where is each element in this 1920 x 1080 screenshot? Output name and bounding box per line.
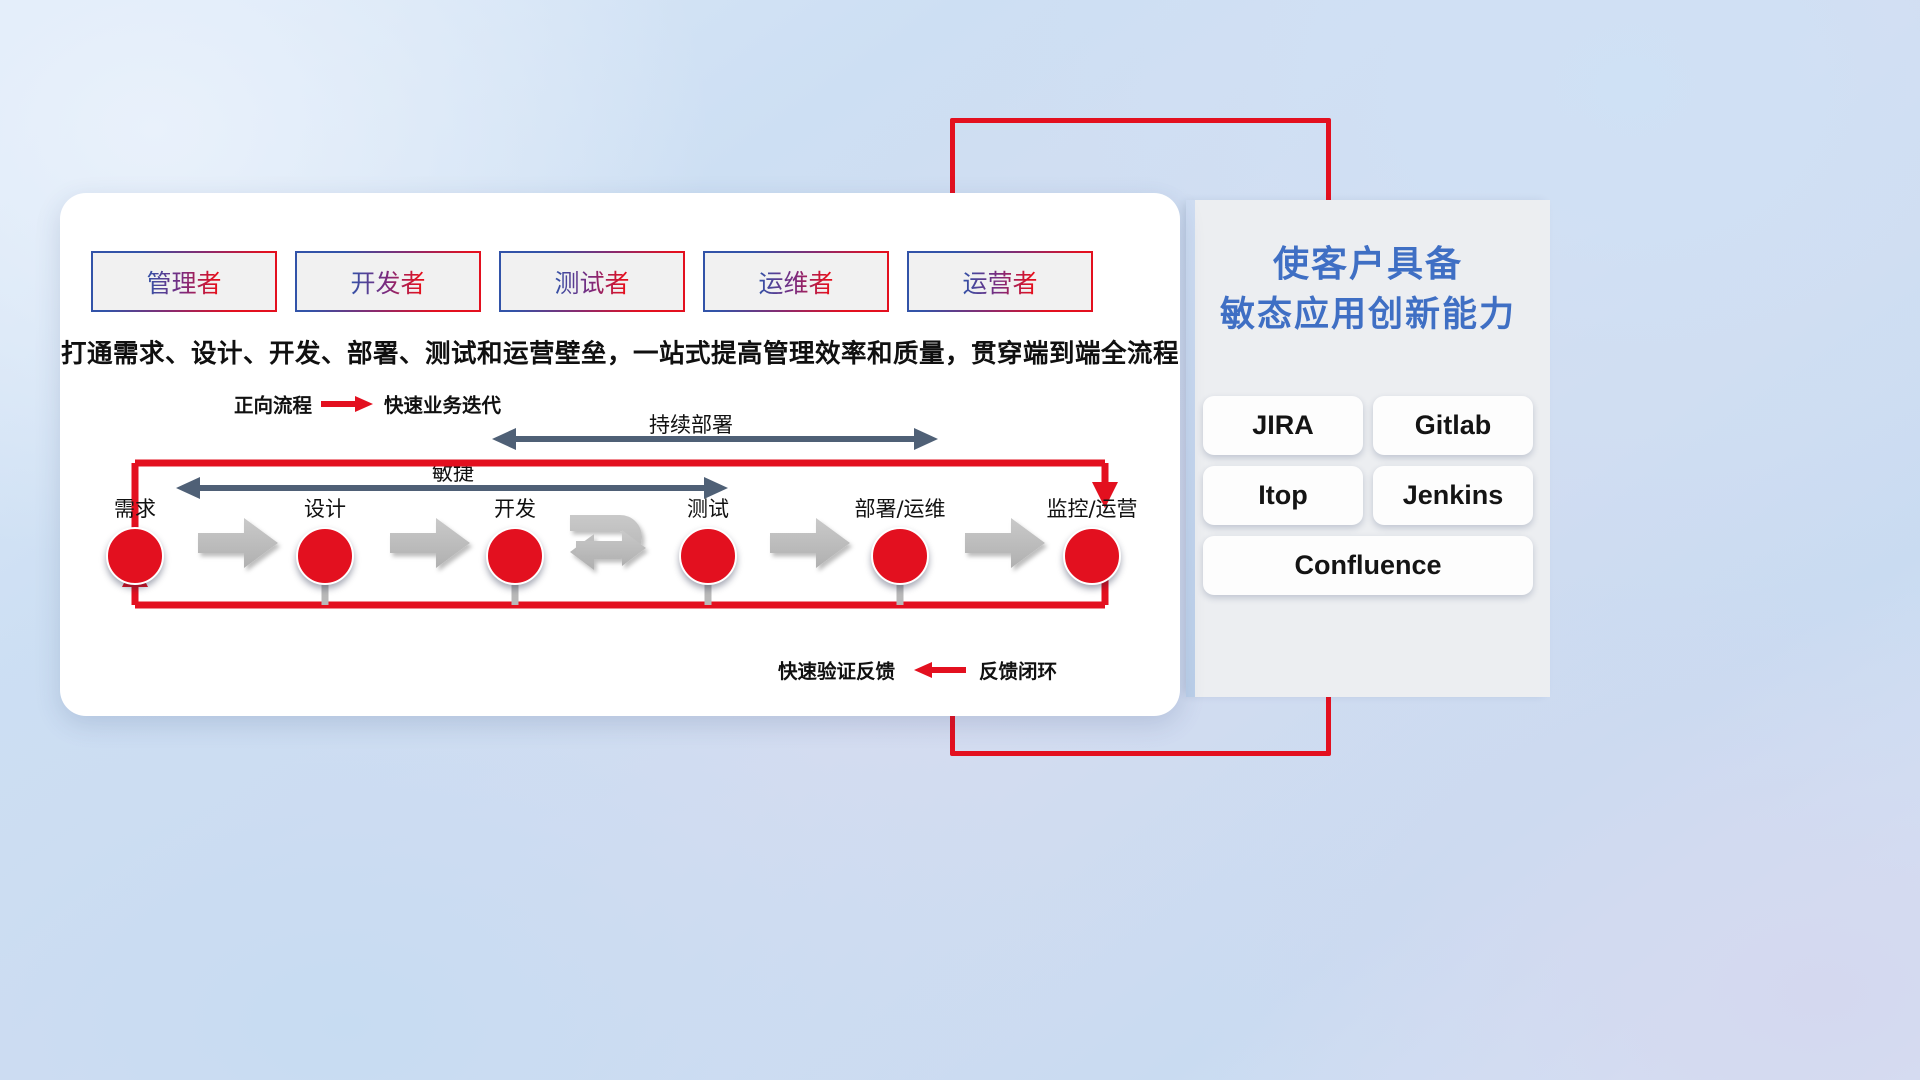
- node-dot: [486, 527, 544, 585]
- panel-heading: 使客户具备 敏态应用创新能力: [1186, 238, 1550, 341]
- tool-chip-jira[interactable]: JIRA: [1203, 396, 1363, 455]
- node-dot: [106, 527, 164, 585]
- summary-text: 打通需求、设计、开发、部署、测试和运营壁垒，一站式提高管理效率和质量，贯穿端到端…: [60, 333, 1180, 370]
- node-label: 设计: [265, 493, 385, 523]
- node-dot: [679, 527, 737, 585]
- legend-forward-label: 正向流程: [234, 389, 312, 418]
- tool-chip-grid: JIRA Gitlab Itop Jenkins Confluence: [1203, 396, 1533, 595]
- tool-chip-itop[interactable]: Itop: [1203, 466, 1363, 525]
- node-label: 需求: [75, 493, 195, 523]
- role-box-manager[interactable]: 管理者: [91, 251, 277, 312]
- node-label: 测试: [648, 493, 768, 523]
- red-arrow-right-icon: [321, 394, 375, 414]
- process-node-monitor-operations[interactable]: 监控/运营: [1032, 493, 1152, 585]
- legend-forward-result: 快速业务迭代: [384, 389, 501, 418]
- main-card: 管理者 开发者 测试者 运维者 运营者 打通需求、设计、开发、部署、测试和运营壁…: [60, 193, 1180, 716]
- process-node-row: 需求 设计 开发 测试 部署/运维 监控/运营: [60, 493, 1180, 613]
- slide-canvas: 使客户具备 敏态应用创新能力 JIRA Gitlab Itop Jenkins …: [0, 0, 1920, 1080]
- role-box-operations[interactable]: 运营者: [907, 251, 1093, 312]
- red-arrow-left-icon: [908, 660, 966, 680]
- node-label: 部署/运维: [840, 493, 960, 523]
- node-label: 开发: [455, 493, 575, 523]
- label-continuous-deployment: 持续部署: [649, 409, 733, 439]
- label-agile: 敏捷: [432, 457, 474, 487]
- role-label: 开发者: [350, 264, 425, 300]
- role-box-row: 管理者 开发者 测试者 运维者 运营者: [91, 251, 1093, 312]
- tool-chip-gitlab[interactable]: Gitlab: [1373, 396, 1533, 455]
- process-node-deploy-ops[interactable]: 部署/运维: [840, 493, 960, 585]
- node-dot: [871, 527, 929, 585]
- node-dot: [296, 527, 354, 585]
- legend-feedback-result: 快速验证反馈: [778, 655, 895, 684]
- process-node-design[interactable]: 设计: [265, 493, 385, 585]
- legend-feedback-label: 反馈闭环: [979, 655, 1057, 684]
- role-box-tester[interactable]: 测试者: [499, 251, 685, 312]
- tool-chip-jenkins[interactable]: Jenkins: [1373, 466, 1533, 525]
- role-box-ops[interactable]: 运维者: [703, 251, 889, 312]
- role-label: 测试者: [554, 264, 629, 300]
- node-dot: [1063, 527, 1121, 585]
- role-label: 管理者: [146, 264, 221, 300]
- tool-chip-confluence[interactable]: Confluence: [1203, 536, 1533, 595]
- role-label: 运维者: [758, 264, 833, 300]
- tool-panel: 使客户具备 敏态应用创新能力 JIRA Gitlab Itop Jenkins …: [1186, 200, 1550, 697]
- process-node-development[interactable]: 开发: [455, 493, 575, 585]
- legend-forward-flow: 正向流程 快速业务迭代: [234, 389, 501, 418]
- role-label: 运营者: [962, 264, 1037, 300]
- node-label: 监控/运营: [1032, 493, 1152, 523]
- panel-heading-line1: 使客户具备: [1273, 243, 1463, 284]
- process-node-testing[interactable]: 测试: [648, 493, 768, 585]
- process-node-requirement[interactable]: 需求: [75, 493, 195, 585]
- legend-feedback-loop: 快速验证反馈 反馈闭环: [778, 655, 1057, 684]
- role-box-developer[interactable]: 开发者: [295, 251, 481, 312]
- panel-heading-line2: 敏态应用创新能力: [1186, 290, 1550, 341]
